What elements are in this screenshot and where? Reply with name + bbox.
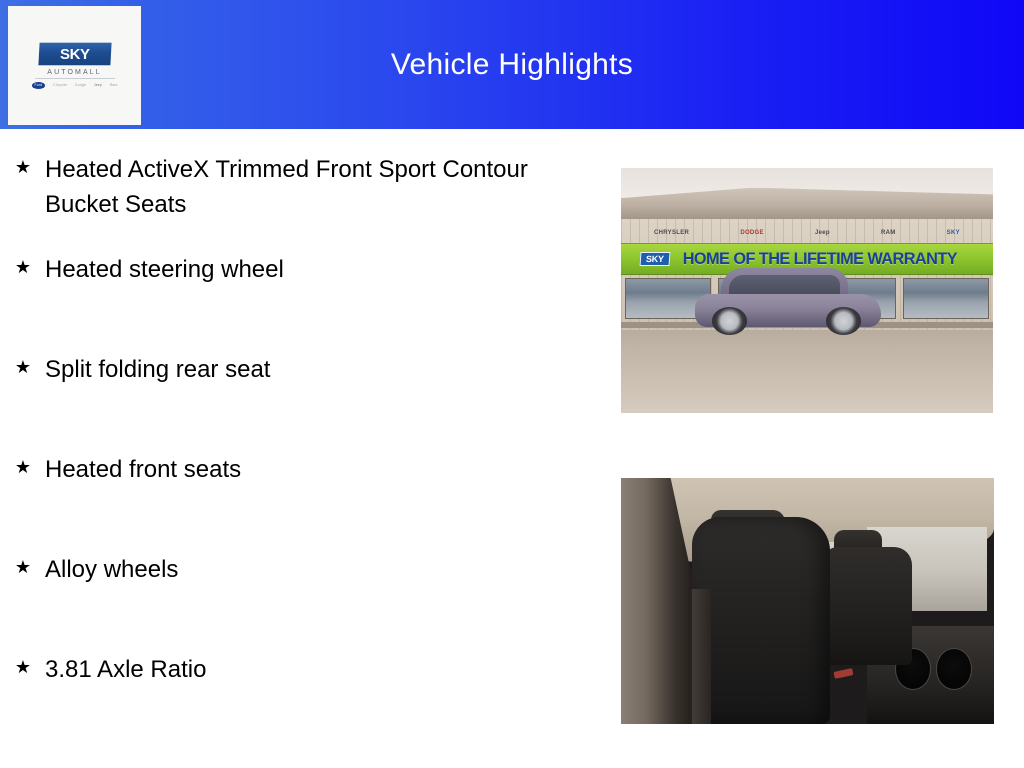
dealer-logo: SKY AUTOMALL Ford Chrysler Dodge Jeep Ra… bbox=[8, 6, 141, 125]
banner-sky-badge: SKY bbox=[639, 252, 670, 266]
facade-brand-sky: SKY bbox=[947, 230, 960, 236]
brand-mark-ram: Ram bbox=[110, 83, 118, 88]
vehicle-exterior-photo: CHRYSLER DODGE Jeep RAM SKY SKY HOME OF … bbox=[621, 168, 993, 413]
list-item-label: Split folding rear seat bbox=[31, 352, 545, 387]
dealer-logo-inner: SKY AUTOMALL Ford Chrysler Dodge Jeep Ra… bbox=[24, 42, 126, 89]
suv-front-wheel bbox=[712, 307, 747, 335]
page-header: Vehicle Highlights SKY AUTOMALL Ford Chr… bbox=[0, 0, 1024, 129]
brand-mark-chrysler: Chrysler bbox=[53, 83, 67, 88]
page-title: Vehicle Highlights bbox=[0, 0, 1024, 129]
facade-brand-ram: RAM bbox=[881, 230, 896, 236]
vehicle-highlights-list: ★ Heated ActiveX Trimmed Front Sport Con… bbox=[0, 152, 600, 752]
logo-brand-row: Ford Chrysler Dodge Jeep Ram bbox=[32, 82, 118, 89]
automall-tagline: AUTOMALL bbox=[47, 69, 101, 76]
suv-vehicle bbox=[695, 268, 881, 334]
banner-warranty-text: HOME OF THE LIFETIME WARRANTY bbox=[683, 249, 957, 269]
brand-mark-ford: Ford bbox=[32, 82, 46, 89]
star-bullet-icon: ★ bbox=[0, 552, 31, 582]
star-bullet-icon: ★ bbox=[0, 152, 31, 182]
list-item: ★ Heated front seats bbox=[0, 452, 600, 552]
facade-brand-dodge: DODGE bbox=[740, 230, 764, 236]
cupholder bbox=[936, 648, 972, 689]
list-item-label: Heated ActiveX Trimmed Front Sport Conto… bbox=[31, 152, 545, 222]
star-bullet-icon: ★ bbox=[0, 252, 31, 282]
star-bullet-icon: ★ bbox=[0, 452, 31, 482]
list-item: ★ 3.81 Axle Ratio bbox=[0, 652, 600, 752]
list-item: ★ Split folding rear seat bbox=[0, 352, 600, 452]
rear-seat bbox=[822, 547, 912, 665]
parking-lot-ground bbox=[621, 325, 993, 413]
star-bullet-icon: ★ bbox=[0, 352, 31, 382]
star-bullet-icon: ★ bbox=[0, 652, 31, 682]
vehicle-interior-photo bbox=[621, 478, 994, 724]
showroom-window bbox=[903, 278, 989, 319]
brand-mark-dodge: Dodge bbox=[75, 83, 86, 88]
list-item: ★ Heated steering wheel bbox=[0, 252, 600, 352]
front-bucket-seat bbox=[692, 517, 830, 724]
sky-wordmark-text: SKY bbox=[60, 46, 90, 63]
suv-rear-wheel bbox=[826, 307, 861, 335]
list-item: ★ Alloy wheels bbox=[0, 552, 600, 652]
facade-brand-chrysler: CHRYSLER bbox=[654, 230, 689, 236]
logo-divider bbox=[35, 78, 115, 79]
list-item: ★ Heated ActiveX Trimmed Front Sport Con… bbox=[0, 152, 600, 252]
facade-brand-jeep: Jeep bbox=[815, 230, 830, 236]
list-item-label: Alloy wheels bbox=[31, 552, 545, 587]
brand-mark-jeep: Jeep bbox=[94, 83, 102, 88]
list-item-label: Heated front seats bbox=[31, 452, 545, 487]
list-item-label: 3.81 Axle Ratio bbox=[31, 652, 545, 687]
list-item-label: Heated steering wheel bbox=[31, 252, 545, 287]
sky-wordmark-banner: SKY bbox=[38, 42, 111, 66]
facade-brand-signs: CHRYSLER DODGE Jeep RAM SKY bbox=[628, 226, 985, 241]
